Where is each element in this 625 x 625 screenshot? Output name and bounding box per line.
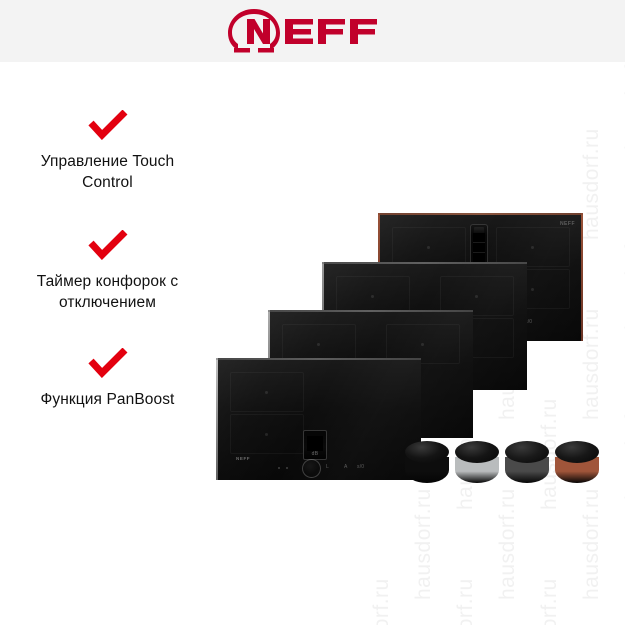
zone-marker	[265, 391, 268, 394]
feature-panboost: Функция PanBoost	[0, 348, 215, 411]
feature-label: Функция PanBoost	[0, 390, 215, 411]
feature-label: Управление Touch Control	[0, 152, 215, 194]
silver-trim-top	[322, 262, 527, 264]
check-icon	[88, 230, 128, 260]
knob-top-face	[555, 441, 599, 463]
twistpad-ring[interactable]	[302, 459, 321, 478]
watermark-text: hausdorf.ru	[412, 488, 436, 600]
knob-black[interactable]	[405, 441, 449, 483]
zone-marker	[265, 433, 268, 436]
control-glyph[interactable]: L	[326, 464, 329, 470]
feature-touch-control: Управление Touch Control	[0, 110, 215, 194]
twist-pad-knobs	[405, 437, 605, 489]
control-glyph[interactable]: s/0	[357, 464, 364, 470]
zone-marker	[421, 343, 424, 346]
control-dot[interactable]	[286, 467, 288, 469]
silver-trim-top	[216, 358, 421, 360]
display-inner	[307, 436, 324, 451]
knob-silver[interactable]	[455, 441, 499, 483]
copper-trim-right	[581, 213, 583, 341]
cooktop-front[interactable]: NEFF dB L A s/0	[216, 358, 421, 480]
watermark-text: hausdorf.ru	[370, 578, 394, 625]
zone-marker	[475, 295, 478, 298]
display-glyph: dB	[304, 451, 326, 457]
watermark-text: hausdorf.ru	[454, 578, 478, 625]
silver-trim-left	[216, 358, 218, 480]
watermark-text: hausdorf.ru	[580, 128, 604, 240]
copper-trim-top	[378, 213, 583, 215]
zone-marker	[427, 246, 430, 249]
check-icon	[88, 348, 128, 378]
watermark-text: hausdorf.ru	[538, 578, 562, 625]
knob-top-face	[405, 441, 449, 463]
control-dot[interactable]	[278, 467, 280, 469]
neff-omega-logo	[225, 6, 395, 56]
hob-brand-mark: NEFF	[236, 456, 250, 461]
zone-marker	[371, 295, 374, 298]
knob-anthracite[interactable]	[505, 441, 549, 483]
check-icon	[88, 110, 128, 140]
feature-burner-timer: Таймер конфорок с отключением	[0, 230, 215, 314]
promo-page: hausdorf.ruhausdorf.ruhausdorf.ruhausdor…	[0, 0, 625, 625]
control-glyph[interactable]: A	[344, 464, 348, 470]
knob-top-face	[455, 441, 499, 463]
watermark-text: hausdorf.ru	[580, 308, 604, 420]
zone-marker	[317, 343, 320, 346]
feature-label: Таймер конфорок с отключением	[0, 272, 215, 314]
hob-display[interactable]: dB	[303, 430, 327, 460]
watermark-text: hausdorf.ru	[496, 488, 520, 600]
header-bar	[0, 0, 625, 62]
hob-corner-logo: NEFF	[560, 221, 575, 227]
feature-list: Управление Touch Control Таймер конфорок…	[0, 110, 215, 433]
zone-marker	[531, 246, 534, 249]
zone-marker	[531, 288, 534, 291]
silver-trim-top	[268, 310, 473, 312]
knob-copper[interactable]	[555, 441, 599, 483]
knob-top-face	[505, 441, 549, 463]
watermark-text: hausdorf.ru	[580, 488, 604, 600]
